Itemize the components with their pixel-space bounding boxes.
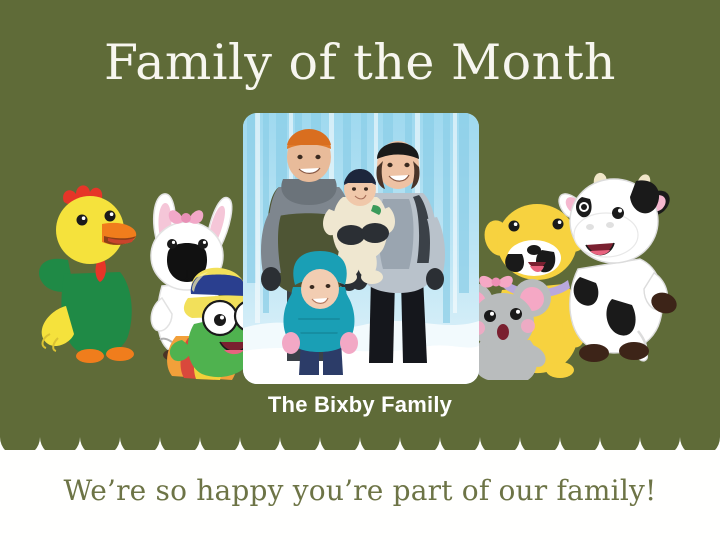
scalloped-divider [0,425,720,460]
family-name-caption: The Bixby Family [0,392,720,418]
mouse-bow-icon [479,276,513,288]
footer-message: We’re so happy you’re part of our family… [0,474,720,507]
poster-green-panel: Family of the Month [0,0,720,450]
family-photo [243,113,479,384]
bunny-bow-icon [169,210,204,224]
page-title: Family of the Month [0,38,720,87]
chicken-mascot [28,178,153,378]
cow-mascot [552,163,692,379]
family-of-the-month-poster: Family of the Month [0,0,720,540]
